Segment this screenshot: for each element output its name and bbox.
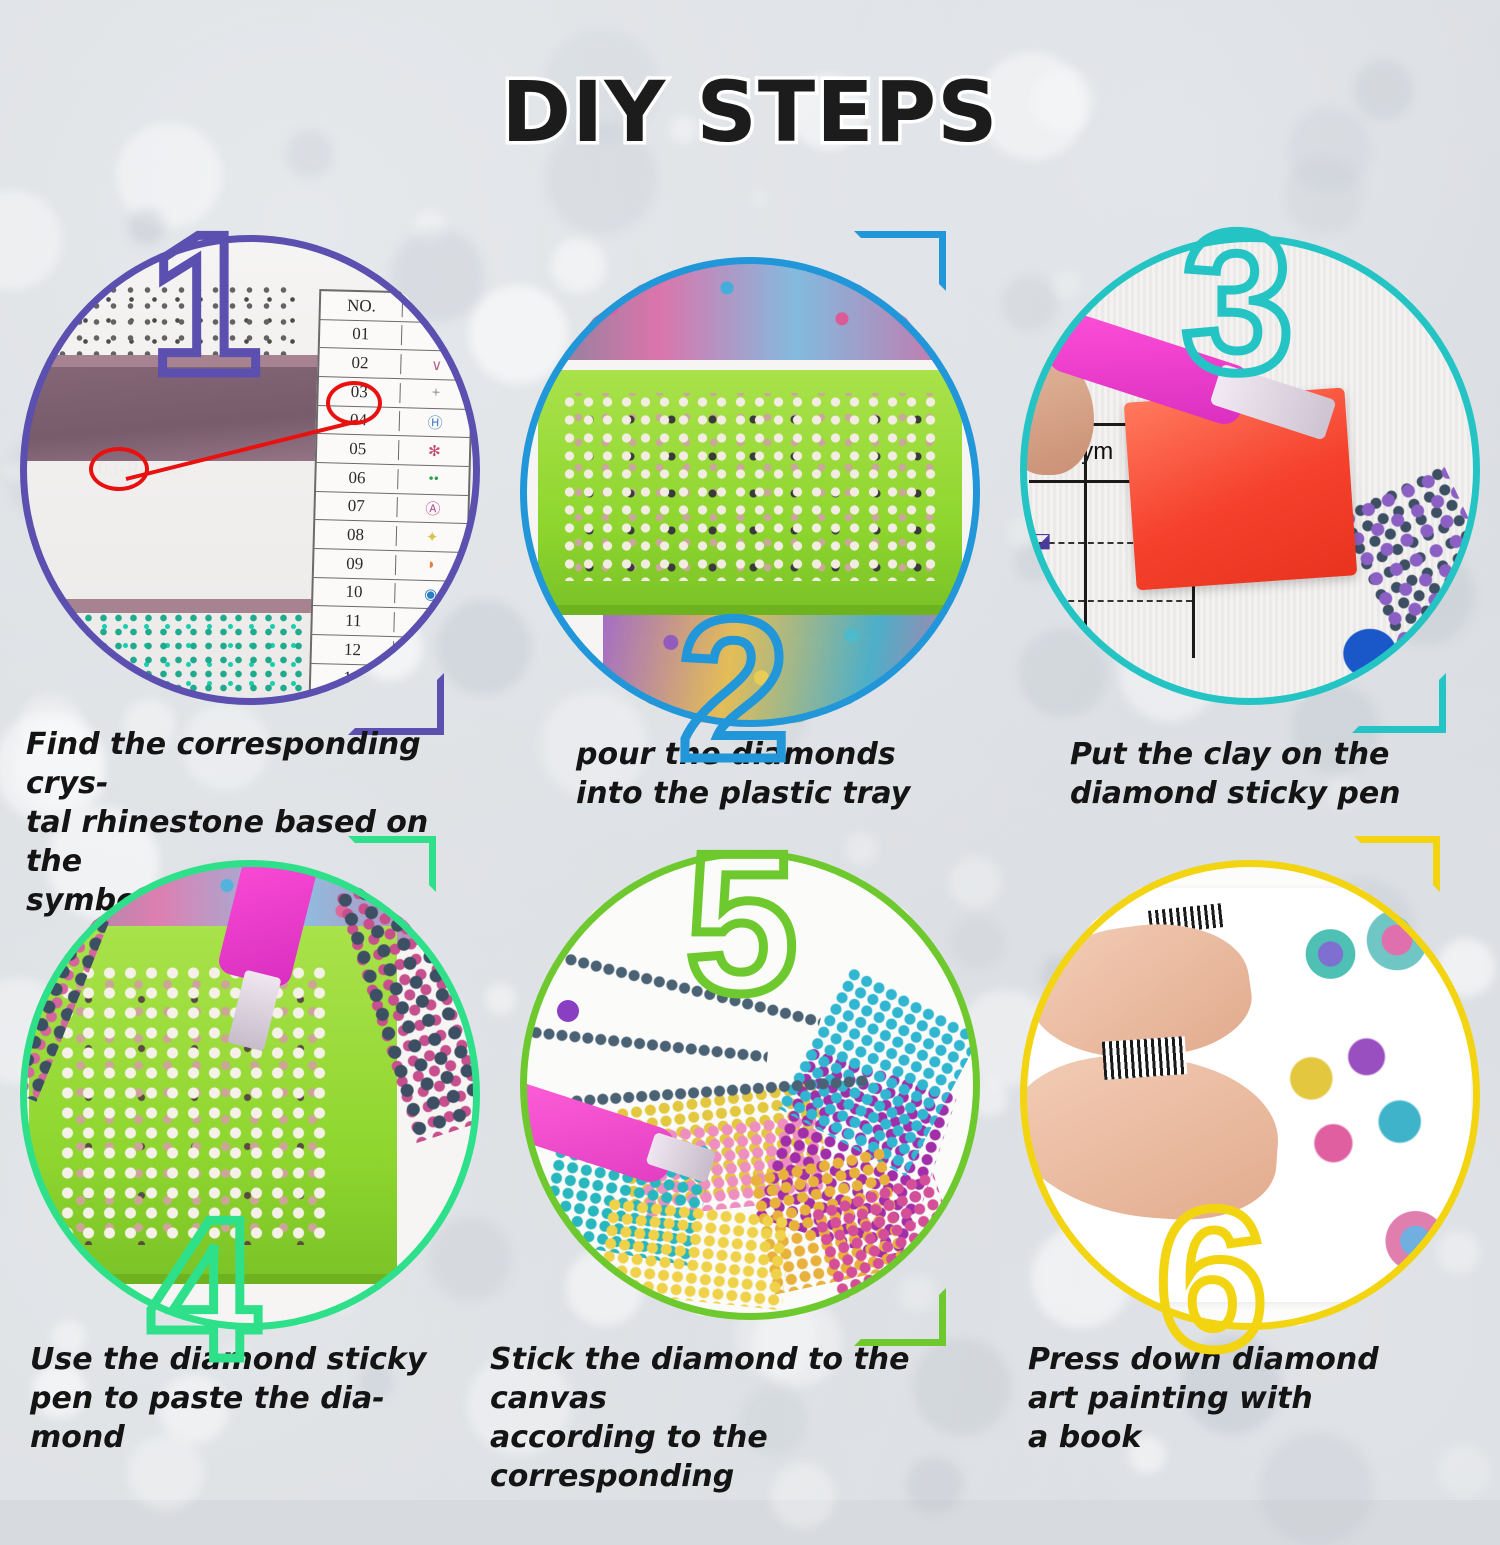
step-5-photo-zone [520, 850, 980, 1320]
book-spine [1102, 1036, 1187, 1079]
step-card-1: 03-R8530 NO. 01 02∨ 03+ 04Ⓗ 05✻ 06•• [0, 235, 500, 850]
table-row: 09◗ [314, 549, 467, 582]
step-2-notch [854, 231, 946, 291]
table-row: 02∨ [319, 349, 472, 382]
page-title-wrap: DIY STEPS [0, 70, 1500, 154]
step-5-notch [854, 1288, 946, 1346]
step-4-photo-zone [20, 860, 480, 1330]
step-6-caption: Press down diamond art painting with a b… [1028, 1340, 1488, 1457]
step-6-notch [1354, 836, 1440, 892]
table-header-row: NO. [321, 291, 474, 324]
step-3-caption: Put the clay on the diamond sticky pen [1070, 735, 1500, 813]
steps-grid: 03-R8530 NO. 01 02∨ 03+ 04Ⓗ 05✻ 06•• [0, 235, 1500, 1500]
table-row: 10◉ [313, 578, 466, 611]
step-2-caption: pour the diamonds into the plastic tray [576, 735, 1036, 813]
annotation-circle-table [326, 381, 382, 425]
table-row: 11 [313, 607, 466, 640]
step-4-photo [20, 860, 480, 1330]
symbol-list-table: NO. 01 02∨ 03+ 04Ⓗ 05✻ 06•• 07Ⓐ 08✦ 09◗ … [309, 289, 476, 697]
table-row: 01 [320, 320, 473, 353]
step-5-caption: Stick the diamond to the canvas accordin… [490, 1340, 1010, 1496]
step-card-4: 4 Use the diamond sticky pen to paste th… [0, 850, 500, 1470]
step-3-photo-zone: O. Sym ◪ Ⓥ + [1020, 235, 1480, 705]
table-row: 07Ⓐ [316, 492, 469, 525]
step-1-photo-zone: 03-R8530 NO. 01 02∨ 03+ 04Ⓗ 05✻ 06•• [20, 235, 480, 705]
step-3-photo: O. Sym ◪ Ⓥ + [1020, 235, 1480, 705]
step-5-photo [520, 850, 980, 1320]
table-row: 06•• [316, 463, 469, 496]
table-row: 08✦ [315, 521, 468, 554]
page-title: DIY STEPS [501, 70, 998, 154]
step-6-photo [1020, 860, 1480, 1330]
annotation-circle-bag [89, 447, 149, 491]
chart-symbol: Ⓥ [1032, 579, 1052, 608]
step-4-caption: Use the diamond sticky pen to paste the … [30, 1340, 490, 1457]
step-card-6: 6 Press down diamond art painting with a… [1000, 850, 1500, 1470]
table-row: 12 [312, 635, 465, 668]
step-2-photo [520, 257, 980, 727]
table-row: 05✻ [317, 435, 470, 468]
chart-symbol: + [1032, 630, 1049, 654]
step-card-3: O. Sym ◪ Ⓥ + [1000, 235, 1500, 850]
step-card-2: 2 pour the diamonds into the plastic tra… [500, 235, 1000, 850]
step-2-photo-zone [520, 257, 980, 727]
step-1-photo: 03-R8530 NO. 01 02∨ 03+ 04Ⓗ 05✻ 06•• [20, 235, 480, 705]
step-3-notch [1352, 673, 1446, 733]
step-4-notch [348, 836, 436, 892]
step-card-5: 5 Stick the diamond to the canvas accord… [500, 850, 1000, 1470]
step-6-photo-zone [1020, 860, 1480, 1330]
chart-symbol: ◪ [1032, 528, 1051, 552]
